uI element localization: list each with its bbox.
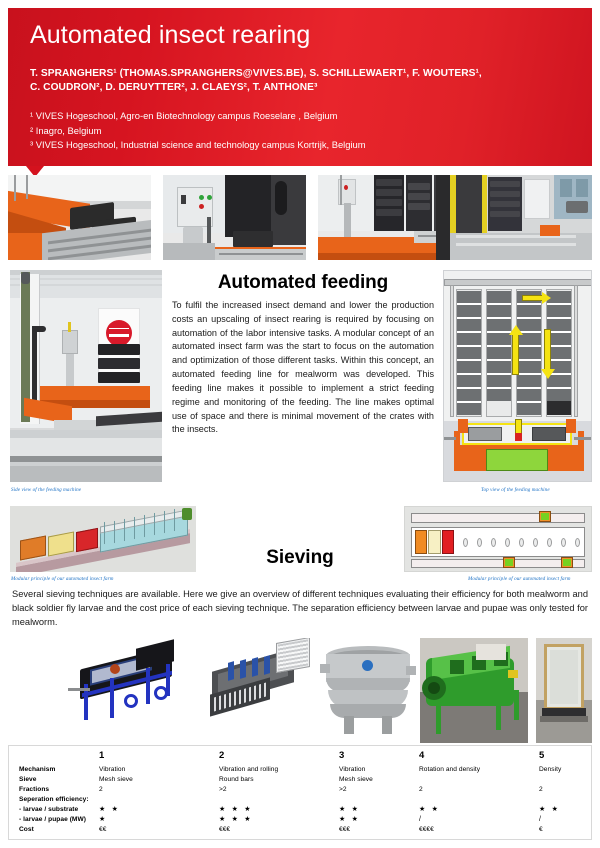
feeding-diagram-caption: Top view of the feeding machine	[481, 487, 550, 493]
cell-sieve-1: Mesh sieve	[99, 775, 133, 785]
poster-header: Automated insect rearing T. SPRANGHERS¹ …	[8, 8, 592, 166]
cell-mechanism-2: Vibration and rolling	[219, 765, 278, 775]
column-header-5: 5	[539, 750, 544, 762]
cell-cost-1: €€	[99, 825, 106, 835]
cell-larvae-substrate-4: ★ ★	[419, 805, 440, 815]
row-label-cost: Cost	[19, 825, 34, 835]
row-label-larvae-pupae: - larvae / pupae (MW)	[19, 815, 86, 825]
author-list: T. SPRANGHERS¹ (THOMAS.SPRANGHERS@VIVES.…	[30, 67, 570, 97]
cell-larvae-pupae-3: ★ ★	[339, 815, 360, 825]
cell-larvae-substrate-2: ★ ★ ★	[219, 805, 253, 815]
sieving-text-block: Several sieving techniques are available…	[12, 588, 588, 630]
modular-right-caption: Modular principle of our automated insec…	[468, 576, 571, 582]
feeding-text-block: Automated feeding To fulfil the increase…	[172, 272, 434, 437]
affiliation-1: ¹ VIVES Hogeschool, Agro-en Biotechnolog…	[30, 109, 570, 124]
row-label-sieve: Sieve	[19, 775, 36, 785]
feeding-section-title: Automated feeding	[172, 272, 434, 294]
affiliation-2: ² Inagro, Belgium	[30, 124, 570, 139]
table-row-cost: Cost €€ €€€ €€€ €€€€ €	[9, 825, 593, 835]
row-label-separation-efficiency: Seperation efficiency:	[19, 795, 89, 805]
cell-cost-2: €€€	[219, 825, 230, 835]
cell-mechanism-1: Vibration	[99, 765, 125, 775]
feeding-photo-caption: Side view of the feeding machine	[11, 487, 81, 493]
column-header-1: 1	[99, 750, 104, 762]
cell-larvae-pupae-2: ★ ★ ★	[219, 815, 253, 825]
author-line-1: T. SPRANGHERS¹ (THOMAS.SPRANGHERS@VIVES.…	[30, 67, 570, 82]
affiliation-list: ¹ VIVES Hogeschool, Agro-en Biotechnolog…	[30, 109, 570, 153]
photo-orange-conveyor-with-black-crates	[8, 175, 151, 260]
photo-warehouse-entrance-racks	[436, 175, 592, 260]
cell-mechanism-4: Rotation and density	[419, 765, 480, 775]
cell-sieve-3: Mesh sieve	[339, 775, 373, 785]
author-line-2: C. COUDRON², D. DERUYTTER², J. CLAEYS², …	[30, 81, 570, 96]
modular-farm-top-plan-diagram	[404, 506, 592, 572]
cell-larvae-pupae-4: /	[419, 815, 423, 825]
table-row-sieve: Sieve Mesh sieve Round bars Mesh sieve	[9, 775, 593, 785]
photo-stainless-control-cabinet	[163, 175, 306, 260]
row-label-larvae-substrate: - larvae / substrate	[19, 805, 78, 815]
table-row-larvae-substrate: - larvae / substrate ★ ★ ★ ★ ★ ★ ★ ★ ★ ★…	[9, 805, 593, 815]
column-header-4: 4	[419, 750, 424, 762]
cell-larvae-pupae-5: /	[539, 815, 543, 825]
cell-larvae-substrate-3: ★ ★	[339, 805, 360, 815]
cell-fractions-5: 2	[539, 785, 543, 795]
table-row-fractions: Fractions 2 >2 >2 2 2	[9, 785, 593, 795]
sieving-body-text: Several sieving techniques are available…	[12, 588, 588, 630]
cell-fractions-1: 2	[99, 785, 103, 795]
table-row-separation-efficiency-header: Seperation efficiency:	[9, 795, 593, 805]
feeding-machine-top-schematic	[443, 270, 592, 482]
cell-fractions-3: >2	[339, 785, 347, 795]
row-label-fractions: Fractions	[19, 785, 49, 795]
cell-sieve-2: Round bars	[219, 775, 254, 785]
row-label-mechanism: Mechanism	[19, 765, 55, 775]
photo-green-rotating-drum-sieve	[420, 638, 528, 743]
column-header-3: 3	[339, 750, 344, 762]
cell-cost-3: €€€	[339, 825, 350, 835]
page-title: Automated insect rearing	[30, 22, 570, 50]
cell-larvae-substrate-5: ★ ★	[539, 805, 560, 815]
photo-density-separation-frame	[536, 638, 592, 743]
cell-cost-5: €	[539, 825, 543, 835]
cell-fractions-2: >2	[219, 785, 227, 795]
top-photo-strip	[8, 175, 592, 260]
photo-inclined-vibrating-sieve-render	[68, 638, 186, 743]
cell-mechanism-5: Density	[539, 765, 561, 775]
sieving-photo-row	[8, 638, 592, 743]
table-header-row: 1 2 3 4 5	[9, 750, 593, 760]
cell-cost-4: €€€€	[419, 825, 434, 835]
photo-circular-vibrating-sieve	[320, 638, 416, 743]
table-row-larvae-pupae: - larvae / pupae (MW) ★ ★ ★ ★ ★ ★ / /	[9, 815, 593, 825]
affiliation-3: ³ VIVES Hogeschool, Industrial science a…	[30, 138, 570, 153]
poster-canvas: Automated insect rearing T. SPRANGHERS¹ …	[0, 0, 600, 848]
feeding-machine-side-photo	[10, 270, 162, 482]
feeding-body-text: To fulfil the increased insect demand an…	[172, 299, 434, 437]
cell-mechanism-3: Vibration	[339, 765, 365, 775]
cell-fractions-4: 2	[419, 785, 423, 795]
cell-larvae-substrate-1: ★ ★	[99, 805, 120, 815]
sieving-comparison-table: 1 2 3 4 5 Mechanism Vibration Vibration …	[8, 745, 592, 840]
column-header-2: 2	[219, 750, 224, 762]
photo-roller-bar-sieve-render	[204, 638, 314, 743]
cell-larvae-pupae-1: ★	[99, 815, 107, 825]
table-row-mechanism: Mechanism Vibration Vibration and rollin…	[9, 765, 593, 775]
modular-left-caption: Modular principle of our automated insec…	[11, 576, 114, 582]
